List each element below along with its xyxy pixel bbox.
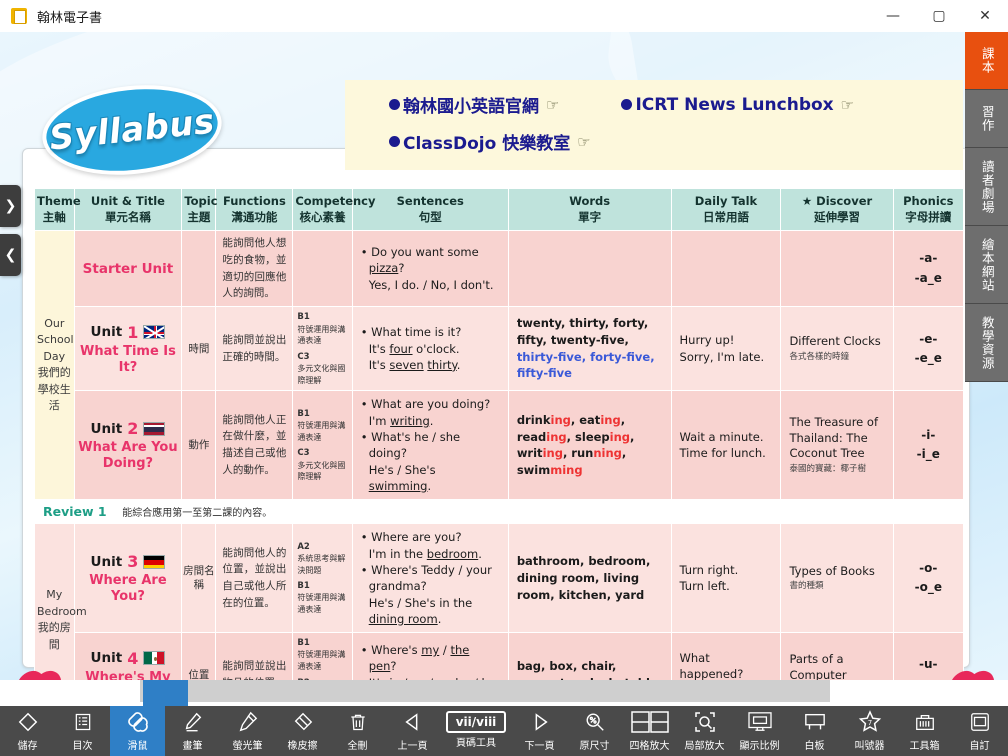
sidebar-tab-label: 課本 (979, 47, 993, 74)
toolbar-button-label: 白板 (805, 737, 825, 752)
flag-germany-icon (143, 555, 165, 569)
toolbar-button-display-ratio[interactable]: 顯示比例 (732, 706, 787, 756)
next-page-icon (529, 708, 551, 736)
cell-daily-talk: Wait a minute.Time for lunch. (671, 391, 781, 500)
cell-words: bag, box, chair, computer, desk, table (508, 633, 671, 680)
toolbar-button-four-pane-zoom[interactable]: 四格放大 (622, 706, 677, 756)
cell-words: bathroom, bedroom, dining room, living r… (508, 524, 671, 633)
syllabus-logo-text: Syllabus (48, 101, 217, 158)
table-of-contents-icon (73, 708, 93, 736)
col-topic: Topic主題 (182, 189, 216, 231)
sentence-bullet: • What are you doing? (361, 396, 500, 412)
cell-discover: The Treasure of Thailand: The Coconut Tr… (781, 391, 893, 500)
competency-desc: 符號運用與溝通表達 (297, 421, 345, 442)
unit-title: What Time Is It? (78, 344, 179, 377)
phonics-item: -i_e (917, 447, 940, 461)
sidebar-tab-0[interactable]: 課本 (965, 32, 1008, 90)
competency-code: B1 (297, 580, 347, 592)
cell-words (508, 231, 671, 307)
table-row: Unit 2 What Are You Doing?動作能詢問他人正在做什麼，並… (35, 391, 964, 500)
cell-discover (781, 231, 893, 307)
pointing-hand-icon: ☞ (546, 96, 559, 114)
ebook-page-canvas[interactable]: Syllabus 翰林國小英語官網 ☞ ICRT News Lunchbox ☞… (0, 32, 1008, 680)
cell-functions: 能詢問他人想吃的食物，並適切的回應他人的詢問。 (216, 231, 293, 307)
toolbar-button-label: 全刪 (348, 737, 368, 752)
cell-unit-title[interactable]: Unit 2 What Are You Doing? (74, 391, 182, 500)
cell-discover: Parts of a Computer電腦的周邊設備 (781, 633, 893, 680)
cell-phonics: -a--a_e (893, 231, 963, 307)
toolbar-button-label: 上一頁 (398, 737, 428, 752)
toolbar-button-label: 滑鼠 (128, 737, 148, 752)
eraser-icon (292, 708, 314, 736)
phonics-item: -e_e (915, 351, 942, 365)
save-icon (17, 708, 39, 736)
competency-code: A2 (297, 541, 347, 553)
toolbar-button-page-number-box[interactable]: vii/viii頁碼工具 (440, 706, 512, 756)
discover-en: Different Clocks (789, 334, 880, 348)
sentence-bullet: • What's he / she doing? (361, 429, 500, 462)
col-cn: 延伸學習 (783, 210, 890, 226)
phonics-item: -e- (919, 332, 937, 346)
window-controls: — ▢ ✕ (870, 0, 1008, 32)
unit-number: Unit 1 (91, 323, 166, 342)
cell-topic: 時間 (182, 307, 216, 391)
competency-code: B2 (297, 677, 347, 680)
col-theme: Theme主軸 (35, 189, 75, 231)
previous-page-icon (402, 708, 424, 736)
toolbar-button-save[interactable]: 儲存 (0, 706, 55, 756)
sentence-bullet: • Where's my / the pen? (361, 642, 500, 675)
col-en: Unit & Title (91, 194, 165, 208)
toolbar-shelf (0, 680, 1008, 706)
cell-competency: B1符號運用與溝通表達B2科技資訊與媒體素養 (293, 633, 352, 680)
competency-code: B1 (297, 311, 347, 323)
four-pane-zoom-icon (631, 708, 669, 736)
bullet-icon (389, 136, 400, 147)
unit-number: Unit 3 (91, 552, 166, 571)
display-ratio-icon (747, 708, 773, 736)
close-button[interactable]: ✕ (962, 0, 1008, 32)
col-en: Competency (295, 194, 375, 208)
whiteboard-icon (803, 708, 827, 736)
competency-desc: 符號運用與溝通表達 (297, 325, 345, 346)
discover-cn: 泰國的寶藏：椰子樹 (789, 464, 884, 475)
pointing-hand-icon: ☞ (841, 96, 854, 114)
cell-sentences: • Do you want some pizza?Yes, I do. / No… (352, 231, 508, 307)
bullet-icon (621, 99, 632, 110)
cell-functions: 能詢問他人正在做什麼，並描述自己或他人的動作。 (216, 391, 293, 500)
competency-code: B1 (297, 408, 347, 420)
sidebar-tab-label: 繪本網站 (979, 238, 993, 292)
external-links-box: 翰林國小英語官網 ☞ ICRT News Lunchbox ☞ ClassDoj… (345, 80, 963, 170)
cell-functions: 能詢問他人的位置，並說出自己或他人所在的位置。 (216, 524, 293, 633)
sentence-bullet: • Do you want some pizza? (361, 244, 500, 277)
actual-size-icon (584, 708, 606, 736)
cell-unit-title[interactable]: Unit 1 What Time Is It? (74, 307, 182, 391)
toolbar-button-label: 螢光筆 (233, 737, 263, 752)
toolbar-button-table-of-contents[interactable]: 目次 (55, 706, 110, 756)
toolbar-button-trash[interactable]: 全刪 (330, 706, 385, 756)
link-classdojo[interactable]: ClassDojo 快樂教室 ☞ (389, 129, 963, 154)
toolbar-button-highlighter[interactable]: 螢光筆 (220, 706, 275, 756)
link-label: ICRT News Lunchbox (635, 95, 833, 115)
col-cn: 主題 (184, 210, 213, 226)
table-row: Unit 4 Where's My Hat?位置能詢問並說出物品的位置。B1符號… (35, 633, 964, 680)
competency-desc: 系統思考與解決問題 (297, 554, 345, 575)
toolbar-button-label: 目次 (73, 737, 93, 752)
unit-title: Starter Unit (78, 261, 179, 278)
table-header-row: Theme主軸 Unit & Title單元名稱 Topic主題 Functio… (35, 189, 964, 231)
toolbar-button-random-picker[interactable]: 7叫號器 (842, 706, 897, 756)
competency-desc: 符號運用與溝通表達 (297, 593, 345, 614)
cell-competency: B1符號運用與溝通表達C3多元文化與國際理解 (293, 391, 352, 500)
cell-topic: 動作 (182, 391, 216, 500)
sidebar-tab-label: 讀者劇場 (979, 160, 993, 214)
cell-daily-talk (671, 231, 781, 307)
review-label: Review 1 (43, 504, 107, 519)
cell-discover: Types of Books書的種類 (781, 524, 893, 633)
cell-topic: 房間名稱 (182, 524, 216, 633)
cell-sentences: • Where's my / the pen?It's in / on / un… (352, 633, 508, 680)
col-cn: 單元名稱 (77, 210, 180, 226)
discover-en: Types of Books (789, 564, 874, 578)
col-cn: 核心素養 (295, 210, 349, 226)
competency-desc: 多元文化與國際理解 (297, 364, 345, 385)
cell-words: drinking, eating, reading, sleeping, wri… (508, 391, 671, 500)
flag-uk-icon (143, 325, 165, 339)
cell-words: twenty, thirty, forty, fifty, twenty-fiv… (508, 307, 671, 391)
toolbar-button-label: 頁碼工具 (456, 734, 496, 749)
sentence-line: I'm writing. (361, 413, 500, 429)
mouse-cursor-icon (126, 708, 150, 736)
pen-icon (182, 708, 204, 736)
custom-icon (969, 708, 991, 736)
phonics-item: -a_e (915, 271, 942, 285)
col-cn: 溝通功能 (218, 210, 290, 226)
svg-text:7: 7 (867, 719, 871, 727)
sentence-line: It's seven thirty. (361, 357, 500, 373)
maximize-button[interactable]: ▢ (916, 0, 962, 32)
cell-unit-title[interactable]: Unit 3 Where Are You? (74, 524, 182, 633)
page-number-box[interactable]: vii/viii (446, 711, 506, 733)
competency-code: C3 (297, 351, 347, 363)
unit-number: Unit 2 (91, 419, 166, 438)
pointing-hand-icon: ☞ (577, 133, 590, 151)
col-en: Phonics (903, 194, 953, 208)
col-daily-talk: Daily Talk日常用語 (671, 189, 781, 231)
cell-daily-talk: Hurry up!Sorry, I'm late. (671, 307, 781, 391)
col-cn: 主軸 (37, 210, 72, 226)
col-en: Functions (223, 194, 286, 208)
col-en: Theme (37, 194, 81, 208)
sentence-line: It's in / on / under / by the box. (361, 675, 500, 680)
toolbar-button-toolbox[interactable]: 工具箱 (897, 706, 952, 756)
cell-competency (293, 231, 352, 307)
toolbar-button-whiteboard[interactable]: 白板 (787, 706, 842, 756)
toolbar-button-label: 自訂 (970, 737, 990, 752)
toolbar-button-label: 顯示比例 (740, 737, 780, 752)
link-label: ClassDojo 快樂教室 (403, 129, 570, 154)
minimize-button[interactable]: — (870, 0, 916, 32)
sentence-bullet: • Where's Teddy / your grandma? (361, 562, 500, 595)
col-cn: 字母拼讀 (896, 210, 961, 226)
cell-functions: 能詢問並說出正確的時間。 (216, 307, 293, 391)
toolbar-button-custom[interactable]: 自訂 (952, 706, 1007, 756)
cell-sentences: • What are you doing?I'm writing.• What'… (352, 391, 508, 500)
cell-daily-talk: What happened?Don't worry. (671, 633, 781, 680)
toolbar-button-label: 下一頁 (525, 737, 555, 752)
sentence-line: He's / She's in the dining room. (361, 595, 500, 628)
sentence-bullet: • What time is it? (361, 324, 500, 340)
toolbar-button-label: 儲存 (18, 737, 38, 752)
discover-cn: 書的種類 (789, 581, 884, 592)
phonics-item: -o_e (915, 580, 942, 594)
toolbar-button-mouse-cursor[interactable]: 滑鼠 (110, 706, 165, 756)
cell-phonics: -i--i_e (893, 391, 963, 500)
review-row: Review 1 能綜合應用第一至第二課的內容。 (35, 500, 964, 524)
link-icrt-news-lunchbox[interactable]: ICRT News Lunchbox ☞ (621, 92, 854, 117)
discover-cn: 各式各樣的時鐘 (789, 352, 884, 363)
unit-title: Where's My Hat? (78, 670, 179, 680)
sidebar-tab-label: 習作 (979, 105, 993, 132)
phonics-item: -u- (919, 657, 938, 671)
phonics-item: -i- (921, 428, 935, 442)
sentence-line: I'm in the bedroom. (361, 546, 500, 562)
discover-en: Parts of a Computer (789, 652, 846, 680)
page-number-heart-right: viii (957, 676, 987, 680)
sentence-line: Yes, I do. / No, I don't. (361, 277, 500, 293)
competency-desc: 符號運用與溝通表達 (297, 650, 345, 671)
toolbar-button-label: 畫筆 (183, 737, 203, 752)
toolbar-button-label: 叫號器 (855, 737, 885, 752)
window-title: 翰林電子書 (37, 7, 102, 26)
col-en: Daily Talk (695, 194, 757, 208)
col-en: Sentences (397, 194, 464, 208)
sidebar-tab-label: 教學資源 (979, 316, 993, 370)
right-sidebar-tabs: 課本習作讀者劇場繪本網站教學資源 (965, 32, 1008, 382)
link-label: 翰林國小英語官網 (403, 92, 539, 117)
phonics-item: -o- (919, 561, 937, 575)
sentence-line: It's four o'clock. (361, 341, 500, 357)
cell-theme: OurSchoolDay我們的學校生活 (35, 231, 75, 500)
table-row: Unit 1 What Time Is It?時間能詢問並說出正確的時間。B1符… (35, 307, 964, 391)
col-cn: 日常用語 (674, 210, 779, 226)
next-page-arrow[interactable]: ❯ (0, 185, 21, 227)
cell-sentences: • What time is it?It's four o'clock.It's… (352, 307, 508, 391)
page-number-heart-left: vii (24, 676, 54, 680)
cell-phonics: -u--u_e (893, 633, 963, 680)
previous-page-arrow[interactable]: ❮ (0, 234, 21, 276)
unit-title: What Are You Doing? (78, 440, 179, 473)
discover-en: The Treasure of Thailand: The Coconut Tr… (789, 415, 878, 460)
cell-functions: 能詢問並說出物品的位置。 (216, 633, 293, 680)
cell-competency: B1符號運用與溝通表達C3多元文化與國際理解 (293, 307, 352, 391)
toolbar-button-next-page[interactable]: 下一頁 (512, 706, 567, 756)
unit-number: Unit 4 (91, 649, 166, 668)
random-picker-icon: 7 (858, 708, 882, 736)
cell-review: Review 1 能綜合應用第一至第二課的內容。 (35, 500, 964, 524)
col-cn: 句型 (355, 210, 506, 226)
toolbar-button-label: 局部放大 (685, 737, 725, 752)
table-row: OurSchoolDay我們的學校生活Starter Unit能詢問他人想吃的食… (35, 231, 964, 307)
cell-daily-talk: Turn right.Turn left. (671, 524, 781, 633)
toolbar-button-eraser[interactable]: 橡皮擦 (275, 706, 330, 756)
flag-mexico-icon (143, 651, 165, 665)
toolbar-button-label: 原尺寸 (580, 737, 610, 752)
col-discover: ★ Discover延伸學習 (781, 189, 893, 231)
cell-unit-title[interactable]: Starter Unit (74, 231, 182, 307)
cell-theme: MyBedroom我的房間 (35, 524, 75, 680)
cell-discover: Different Clocks各式各樣的時鐘 (781, 307, 893, 391)
col-en: Topic (184, 194, 217, 208)
active-tool-tab-highlight (143, 680, 188, 706)
sidebar-tab-4[interactable]: 教學資源 (965, 304, 1008, 382)
col-en: ★ Discover (802, 194, 872, 208)
toolbar-button-label: 工具箱 (910, 737, 940, 752)
col-functions: Functions溝通功能 (216, 189, 293, 231)
review-desc: 能綜合應用第一至第二課的內容。 (122, 508, 272, 519)
toolbox-icon (913, 708, 937, 736)
app-icon (11, 8, 27, 24)
unit-title: Where Are You? (78, 573, 179, 606)
sentence-line: He's / She's swimming. (361, 462, 500, 495)
col-words: Words單字 (508, 189, 671, 231)
sidebar-tab-1[interactable]: 習作 (965, 90, 1008, 148)
heart-icon (20, 674, 58, 680)
sentence-bullet: • Where are you? (361, 529, 500, 545)
col-phonics: Phonics字母拼讀 (893, 189, 963, 231)
cell-phonics: -o--o_e (893, 524, 963, 633)
table-body: OurSchoolDay我們的學校生活Starter Unit能詢問他人想吃的食… (35, 231, 964, 680)
col-competency: Competency核心素養 (293, 189, 352, 231)
syllabus-table: Theme主軸 Unit & Title單元名稱 Topic主題 Functio… (34, 188, 964, 680)
cell-topic (182, 231, 216, 307)
col-cn: 單字 (511, 210, 669, 226)
sidebar-tab-2[interactable]: 讀者劇場 (965, 148, 1008, 226)
competency-code: B1 (297, 637, 347, 649)
toolbar-button-region-zoom[interactable]: 局部放大 (677, 706, 732, 756)
toolbar-button-pen[interactable]: 畫筆 (165, 706, 220, 756)
toolbar-plate (140, 680, 830, 702)
competency-code: C3 (297, 447, 347, 459)
toolbar-button-actual-size[interactable]: 原尺寸 (567, 706, 622, 756)
cell-sentences: • Where are you?I'm in the bedroom.• Whe… (352, 524, 508, 633)
toolbar-button-previous-page[interactable]: 上一頁 (385, 706, 440, 756)
flag-thailand-icon (143, 422, 165, 436)
heart-icon (953, 674, 991, 680)
phonics-item: -a- (919, 251, 937, 265)
table-row: MyBedroom我的房間Unit 3 Where Are You?房間名稱能詢… (35, 524, 964, 633)
phonics-item: -u_e (914, 677, 942, 680)
cell-competency: A2系統思考與解決問題B1符號運用與溝通表達 (293, 524, 352, 633)
toolbar-button-label: 四格放大 (630, 737, 670, 752)
sidebar-tab-3[interactable]: 繪本網站 (965, 226, 1008, 304)
competency-desc: 多元文化與國際理解 (297, 461, 345, 482)
bottom-toolbar: 儲存目次滑鼠畫筆螢光筆橡皮擦全刪上一頁vii/viii頁碼工具下一頁原尺寸四格放… (0, 706, 1008, 756)
bullet-icon (389, 99, 400, 110)
link-hanlin-english-site[interactable]: 翰林國小英語官網 ☞ (389, 92, 559, 117)
col-unit-title: Unit & Title單元名稱 (74, 189, 182, 231)
highlighter-icon (237, 708, 259, 736)
col-en: Words (569, 194, 610, 208)
region-zoom-icon (693, 708, 717, 736)
toolbar-button-label: 橡皮擦 (288, 737, 318, 752)
cell-topic: 位置 (182, 633, 216, 680)
window-titlebar: 翰林電子書 — ▢ ✕ (0, 0, 1008, 32)
cell-unit-title[interactable]: Unit 4 Where's My Hat? (74, 633, 182, 680)
trash-icon (348, 708, 368, 736)
cell-phonics: -e--e_e (893, 307, 963, 391)
